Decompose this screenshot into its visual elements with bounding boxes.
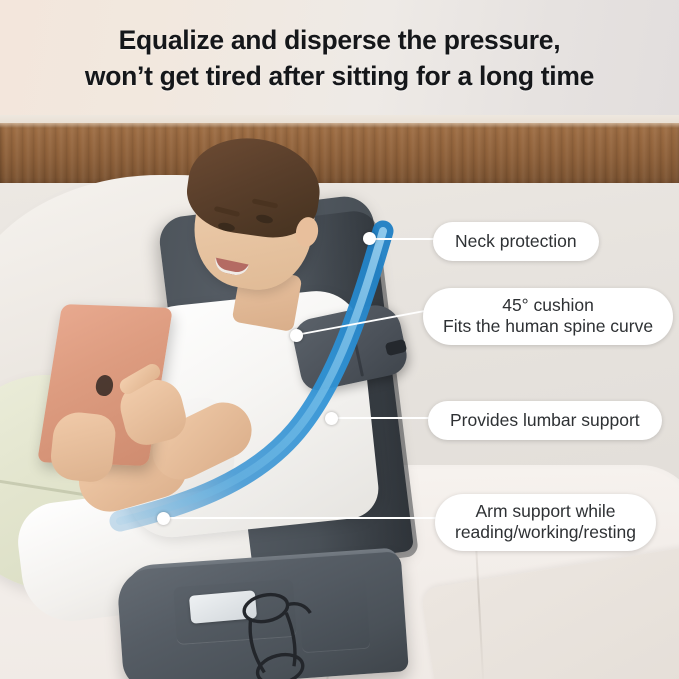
callout-dot-neck xyxy=(363,232,376,245)
callout-lumbar-support-label: Provides lumbar support xyxy=(450,410,640,430)
leader-line-cushion xyxy=(296,310,430,335)
product-infographic: Equalize and disperse the pressure, won’… xyxy=(0,0,679,679)
callout-dot-arm xyxy=(157,512,170,525)
callout-neck-protection-label: Neck protection xyxy=(455,231,577,251)
callout-neck-protection[interactable]: Neck protection xyxy=(433,222,599,261)
callout-cushion-angle-line1: 45° cushion xyxy=(443,295,653,316)
callout-lumbar-support[interactable]: Provides lumbar support xyxy=(428,401,662,440)
callout-arm-support[interactable]: Arm support while reading/working/restin… xyxy=(435,494,656,551)
callout-cushion-angle-line2: Fits the human spine curve xyxy=(443,316,653,337)
callout-layer: Neck protection 45° cushion Fits the hum… xyxy=(0,0,679,679)
callout-arm-support-line1: Arm support while xyxy=(455,501,636,522)
callout-dot-cushion xyxy=(290,329,303,342)
callout-cushion-angle[interactable]: 45° cushion Fits the human spine curve xyxy=(423,288,673,345)
callout-dot-lumbar xyxy=(325,412,338,425)
callout-arm-support-line2: reading/working/resting xyxy=(455,522,636,543)
